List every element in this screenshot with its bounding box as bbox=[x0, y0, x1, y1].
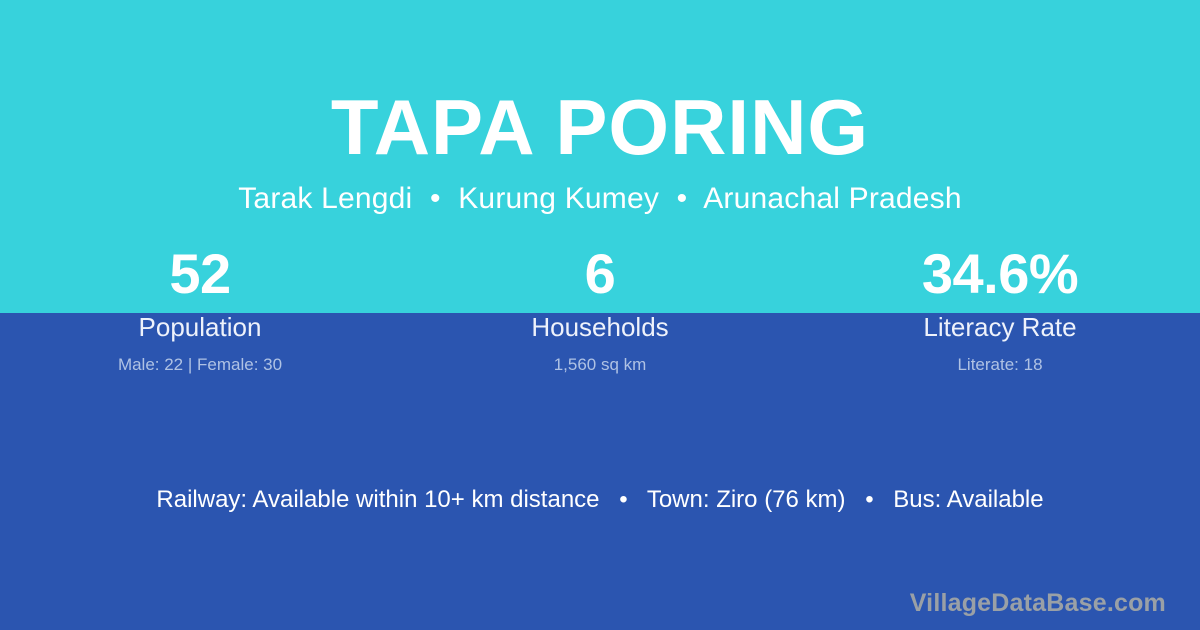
breadcrumb-district: Kurung Kumey bbox=[458, 182, 659, 215]
village-info-card: TAPA PORING Tarak Lengdi • Kurung Kumey … bbox=[0, 0, 1200, 630]
stat-households-sub: 1,560 sq km bbox=[400, 353, 800, 377]
breadcrumb-block: Tarak Lengdi bbox=[238, 182, 412, 215]
breadcrumb-separator-icon: • bbox=[668, 182, 697, 217]
site-brand: VillageDataBase.com bbox=[910, 588, 1166, 618]
info-town: Town: Ziro (76 km) bbox=[647, 486, 846, 513]
stat-population: 52 Population Male: 22 | Female: 30 bbox=[0, 240, 400, 377]
breadcrumb: Tarak Lengdi • Kurung Kumey • Arunachal … bbox=[0, 182, 1200, 217]
info-bus: Bus: Available bbox=[893, 486, 1043, 513]
page-title: TAPA PORING bbox=[0, 88, 1200, 166]
stat-literacy-value: 34.6% bbox=[800, 240, 1200, 308]
info-separator-icon: • bbox=[606, 484, 640, 516]
stat-population-value: 52 bbox=[0, 240, 400, 308]
stat-households-value: 6 bbox=[400, 240, 800, 308]
stat-literacy: 34.6% Literacy Rate Literate: 18 bbox=[800, 240, 1200, 377]
breadcrumb-separator-icon: • bbox=[421, 182, 450, 217]
stat-households-label: Households bbox=[400, 310, 800, 344]
breadcrumb-state: Arunachal Pradesh bbox=[703, 182, 962, 215]
info-separator-icon: • bbox=[852, 484, 886, 516]
stat-households: 6 Households 1,560 sq km bbox=[400, 240, 800, 377]
stat-literacy-sub: Literate: 18 bbox=[800, 353, 1200, 377]
stat-population-label: Population bbox=[0, 310, 400, 344]
stats-row: 52 Population Male: 22 | Female: 30 6 Ho… bbox=[0, 240, 1200, 377]
stat-population-sub: Male: 22 | Female: 30 bbox=[0, 353, 400, 377]
connectivity-info: Railway: Available within 10+ km distanc… bbox=[0, 484, 1200, 516]
info-railway: Railway: Available within 10+ km distanc… bbox=[156, 486, 599, 513]
stat-literacy-label: Literacy Rate bbox=[800, 310, 1200, 344]
